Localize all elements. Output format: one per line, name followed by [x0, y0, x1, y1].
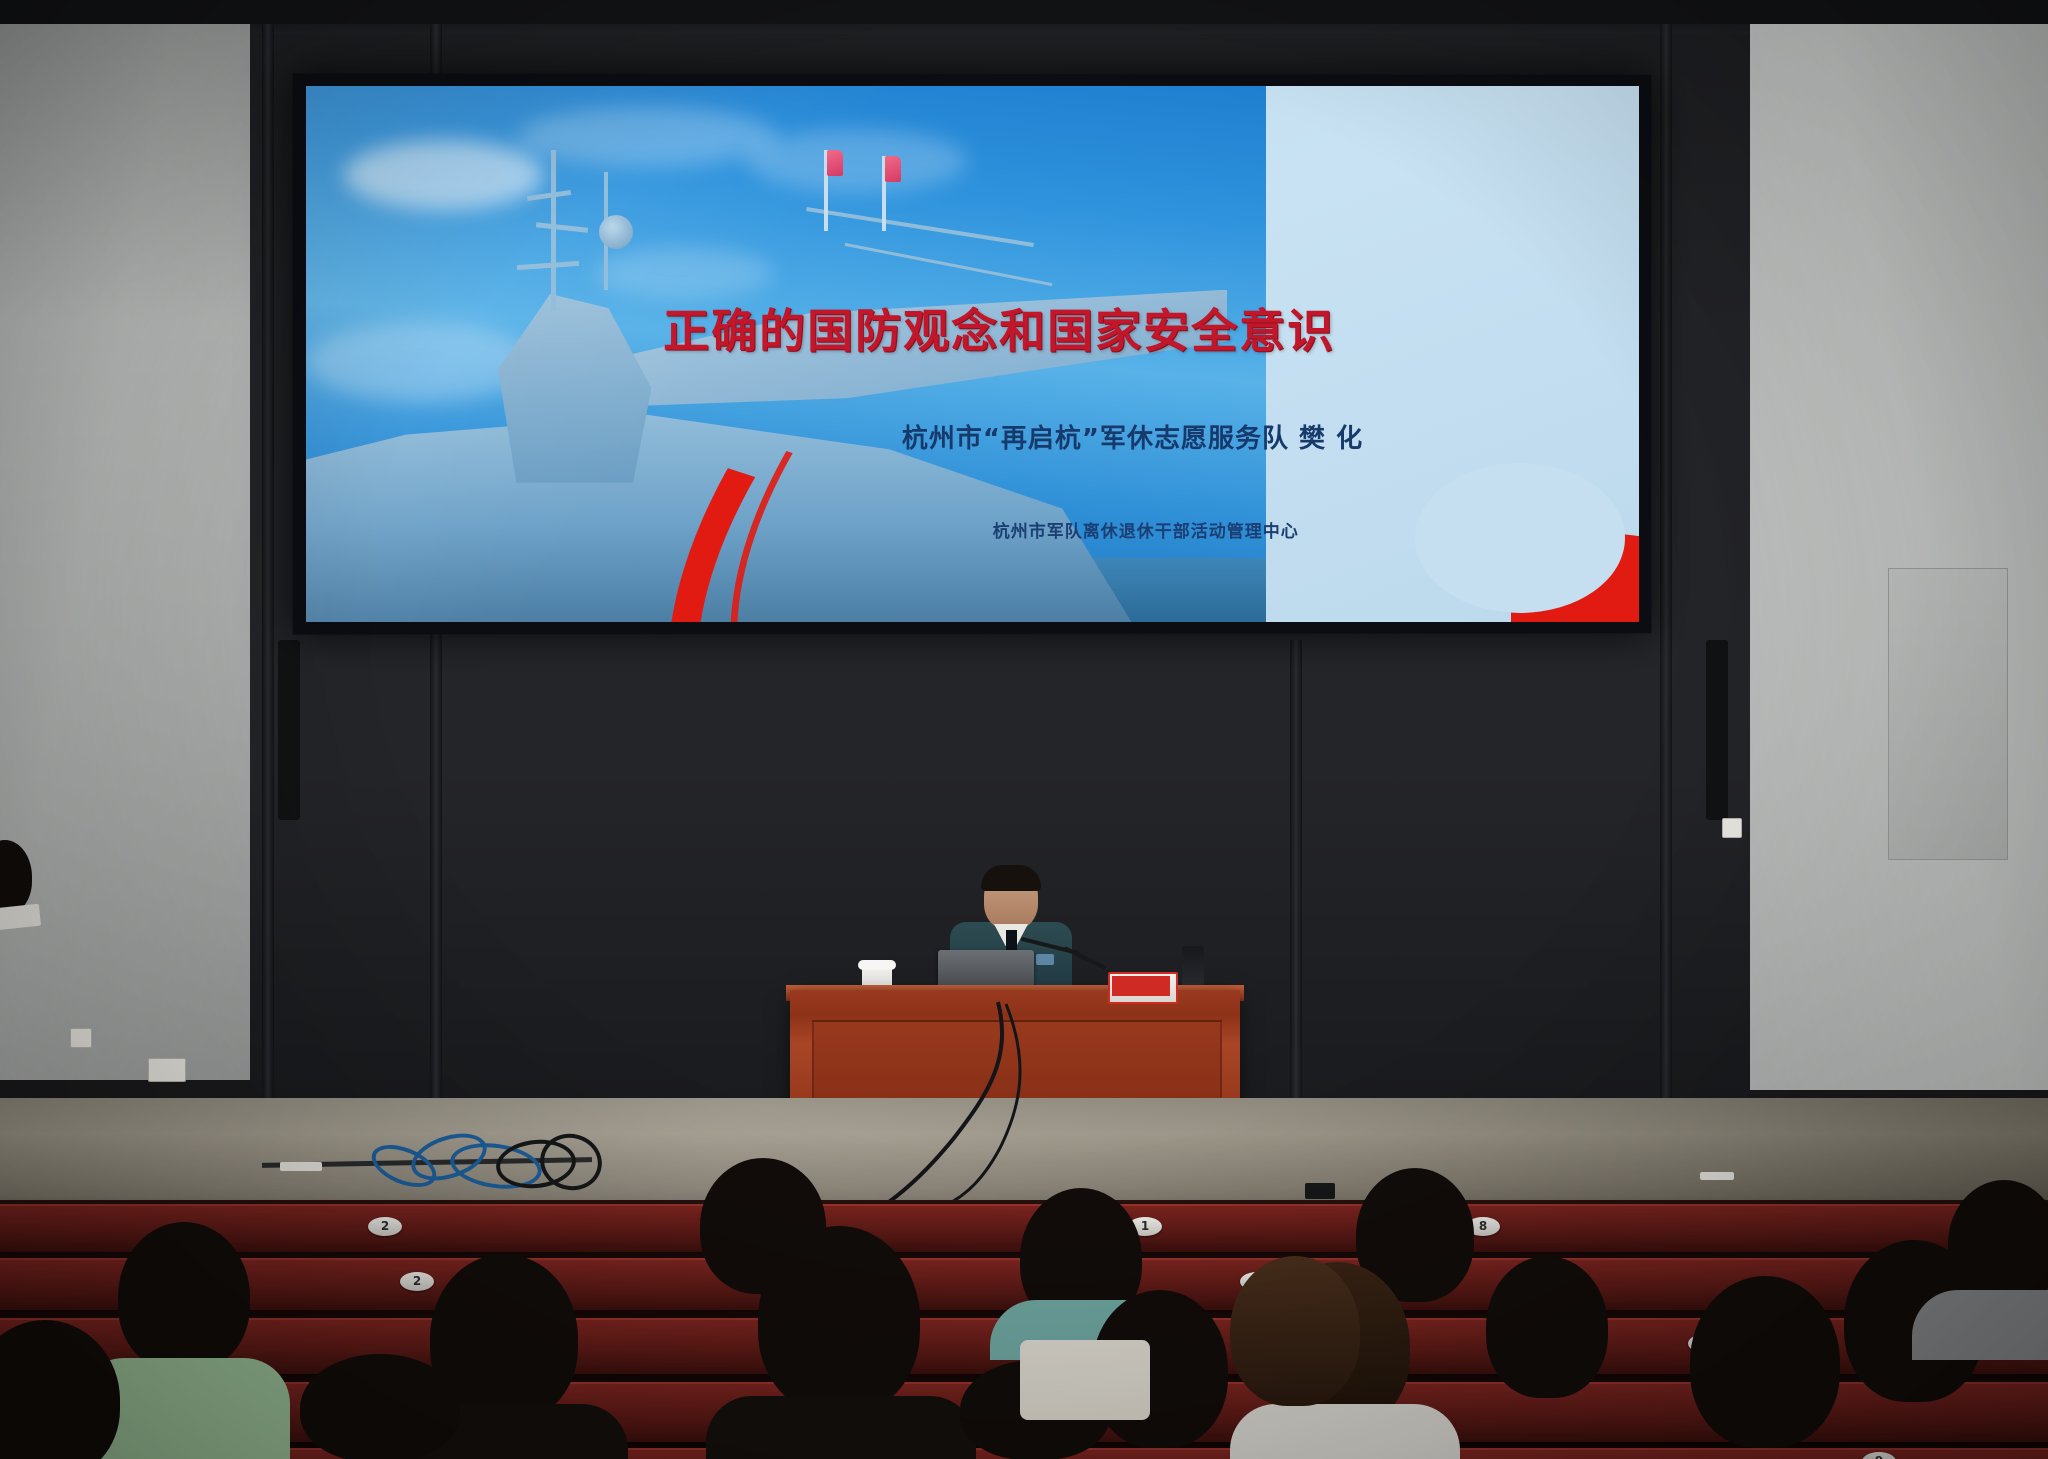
floor-device-box: [1305, 1183, 1335, 1199]
wall-access-panel: [1888, 568, 2008, 860]
wall-speaker-left: [278, 640, 300, 820]
name-plate-face: [1112, 976, 1170, 996]
stage-panel-seam-3: [1290, 640, 1302, 1100]
presenter-hair: [981, 865, 1041, 891]
ceiling-strip: [0, 0, 2048, 24]
wall-outlet[interactable]: [148, 1058, 186, 1082]
wall-switch[interactable]: [70, 1028, 92, 1048]
audience-head: [300, 1354, 460, 1459]
desk-cable: [880, 998, 1200, 1208]
seat-number: 2: [400, 1272, 434, 1291]
audience-shoulders: [706, 1396, 976, 1459]
audience-head: [1486, 1256, 1608, 1398]
coiled-cables: [300, 1130, 640, 1190]
lecture-hall-scene: 正确的国防观念和国家安全意识 杭州市“再启杭”军休志愿服务队 樊 化 杭州市军队…: [0, 0, 2048, 1459]
floor-marker-tape: [280, 1162, 322, 1171]
floor-marker-tape: [1700, 1172, 1734, 1180]
audience-head: [786, 1250, 882, 1360]
audience-head: [1230, 1256, 1360, 1406]
bag-on-seat: [1020, 1340, 1150, 1420]
audience-shoulders: [1912, 1290, 2048, 1360]
uniform-badge: [1036, 954, 1054, 965]
wall-switch-right[interactable]: [1722, 818, 1742, 838]
presentation-slide: 正确的国防观念和国家安全意识 杭州市“再启杭”军休志愿服务队 樊 化 杭州市军队…: [306, 86, 1639, 622]
audience-shoulders: [1230, 1404, 1460, 1459]
slide-organization: 杭州市军队离休退休干部活动管理中心: [306, 517, 1639, 542]
audience-head: [118, 1222, 250, 1372]
stage-panel-seam-left: [262, 0, 274, 1100]
audience-head: [1690, 1276, 1840, 1448]
audience-head: [1948, 1180, 2048, 1308]
stage-panel-seam-right: [1660, 0, 1672, 1100]
seat-number: 2: [368, 1217, 402, 1236]
slide-subtitle: 杭州市“再启杭”军休志愿服务队 樊 化: [306, 418, 1639, 455]
tea-cup-lid: [858, 960, 896, 970]
projection-screen[interactable]: 正确的国防观念和国家安全意识 杭州市“再启杭”军休志愿服务队 樊 化 杭州市军队…: [306, 86, 1639, 622]
slide-title: 正确的国防观念和国家安全意识: [306, 295, 1639, 361]
right-wall: [1744, 0, 2048, 1090]
wall-speaker-right: [1706, 640, 1728, 820]
